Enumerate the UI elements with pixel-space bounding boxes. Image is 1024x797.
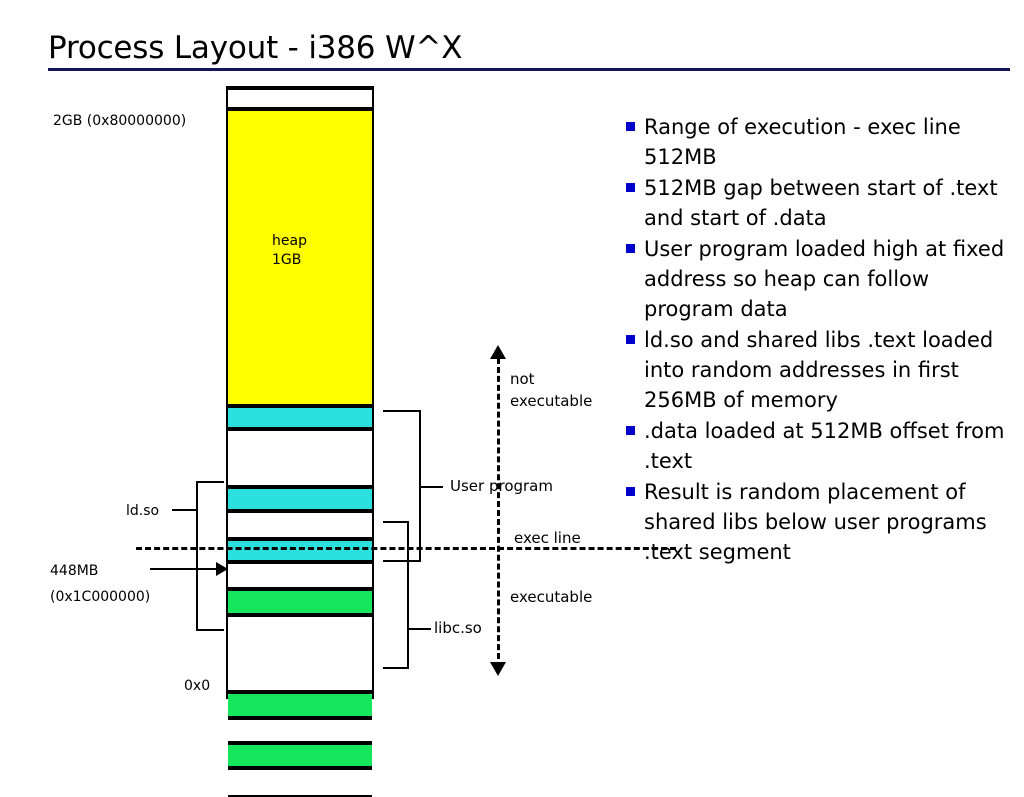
bullet-list: Range of execution - exec line 512MB512M… [626,112,1006,568]
bullet-square-icon [626,183,635,192]
memory-band-shared-data-2 [228,692,372,718]
address-label-2gb: 2GB (0x80000000) [53,113,186,129]
bullet-square-icon [626,122,635,131]
heap-label-line2: 1GB [272,251,307,270]
libc-bracket-tick [407,628,431,630]
ldso-bracket [196,481,224,631]
not-executable-label: not executable [510,368,592,412]
memory-band-gap-1 [228,429,372,487]
list-item: Result is random placement of shared lib… [626,477,1006,567]
ldso-bracket-tick [172,509,196,511]
page-title: Process Layout - i386 W^X [48,30,462,66]
list-item: ld.so and shared libs .text loaded into … [626,325,1006,415]
memory-band-gap-2 [228,511,372,539]
heap-label: heap 1GB [272,232,307,270]
heap-label-line1: heap [272,232,307,251]
address-label-0x0: 0x0 [184,678,210,694]
ldso-label: ld.so [126,503,159,519]
memory-band-gap-4 [228,615,372,692]
list-item-label: .data loaded at 512MB offset from .text [644,416,1006,476]
address-448mb-line1: 448MB [50,558,150,584]
executable-label: executable [510,588,592,606]
list-item-label: Range of execution - exec line 512MB [644,112,1006,172]
list-item: .data loaded at 512MB offset from .text [626,416,1006,476]
memory-band-mmap-gap [228,88,372,109]
arrow-up-icon [490,345,506,359]
list-item: Range of execution - exec line 512MB [626,112,1006,172]
bullet-square-icon [626,487,635,496]
address-448mb-line2: (0x1C000000) [50,584,150,610]
memory-layout-column [226,86,374,699]
exec-line-label: exec line [512,529,583,547]
bullet-square-icon [626,244,635,253]
memory-band-shared-text-2 [228,487,372,511]
memory-band-gap-3 [228,562,372,589]
libc-label: libc.so [434,619,482,637]
user-program-label: User program [450,477,553,495]
memory-band-gap-5 [228,718,372,743]
executability-axis [497,358,500,668]
exec-line-dashed [136,547,676,550]
not-executable-line1: not [510,368,592,390]
title-underline-rule [48,68,1010,71]
user-program-bracket-tick [419,486,443,488]
not-executable-line2: executable [510,390,592,412]
address-label-448mb: 448MB (0x1C000000) [50,558,150,610]
libc-bracket [383,521,409,669]
memory-band-gap-6 [228,768,372,797]
list-item: User program loaded high at fixed addres… [626,234,1006,324]
list-item-label: Result is random placement of shared lib… [644,477,1006,567]
memory-band-shared-data-1 [228,589,372,615]
bullet-square-icon [626,426,635,435]
memory-band-shared-text-1 [228,406,372,429]
bullet-square-icon [626,335,635,344]
arrow-down-icon [490,662,506,676]
memory-band-shared-data-3 [228,743,372,768]
list-item-label: 512MB gap between start of .text and sta… [644,173,1006,233]
list-item-label: User program loaded high at fixed addres… [644,234,1006,324]
memory-band-shared-text-3 [228,539,372,562]
list-item-label: ld.so and shared libs .text loaded into … [644,325,1006,415]
list-item: 512MB gap between start of .text and sta… [626,173,1006,233]
